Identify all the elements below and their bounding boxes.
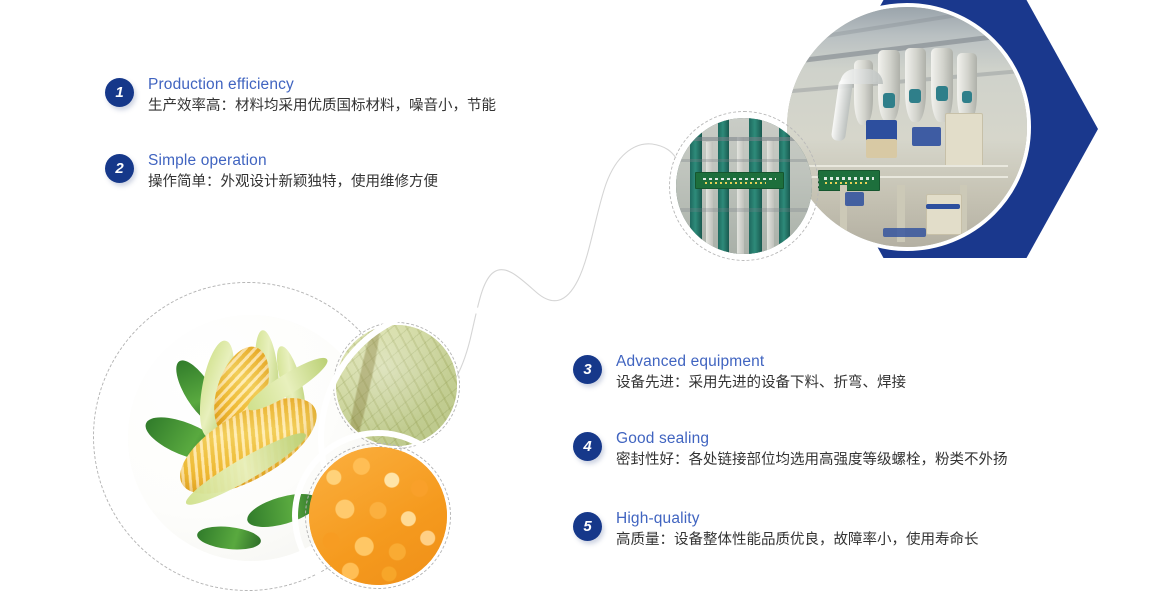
feature-description-5: 高质量：设备整体性能品质优良，故障率小，使用寿命长 [616, 530, 979, 551]
feature-text-5: High-quality 高质量：设备整体性能品质优良，故障率小，使用寿命长 [616, 509, 979, 551]
feature-number-badge-5: 5 [573, 512, 602, 541]
feature-item-1[interactable]: 1 Production efficiency 生产效率高：材料均采用优质国标材… [105, 75, 496, 117]
feature-item-5[interactable]: 5 High-quality 高质量：设备整体性能品质优良，故障率小，使用寿命长 [573, 509, 979, 551]
feature-description-4: 密封性好：各处链接部位均选用高强度等级螺栓，粉类不外扬 [616, 450, 1008, 471]
feature-text-4: Good sealing 密封性好：各处链接部位均选用高强度等级螺栓，粉类不外扬 [616, 429, 1008, 471]
feature-title-4: Good sealing [616, 429, 1008, 448]
feature-title-3: Advanced equipment [616, 352, 906, 371]
feature-description-1: 生产效率高：材料均采用优质国标材料，噪音小，节能 [148, 96, 496, 117]
feature-number-badge-4: 4 [573, 432, 602, 461]
feature-text-1: Production efficiency 生产效率高：材料均采用优质国标材料，… [148, 75, 496, 117]
feature-text-3: Advanced equipment 设备先进：采用先进的设备下料、折弯、焊接 [616, 352, 906, 394]
corn-paste-photo [336, 325, 457, 446]
feature-title-5: High-quality [616, 509, 979, 528]
feature-title-1: Production efficiency [148, 75, 496, 94]
feature-infographic: 1 Production efficiency 生产效率高：材料均采用优质国标材… [0, 0, 1154, 591]
feature-item-2[interactable]: 2 Simple operation 操作简单：外观设计新颖独特，使用维修方便 [105, 151, 438, 193]
feature-text-2: Simple operation 操作简单：外观设计新颖独特，使用维修方便 [148, 151, 438, 193]
feature-item-3[interactable]: 3 Advanced equipment 设备先进：采用先进的设备下料、折弯、焊… [573, 352, 906, 394]
feature-description-3: 设备先进：采用先进的设备下料、折弯、焊接 [616, 373, 906, 394]
feature-description-2: 操作简单：外观设计新颖独特，使用维修方便 [148, 172, 438, 193]
feature-title-2: Simple operation [148, 151, 438, 170]
feature-item-4[interactable]: 4 Good sealing 密封性好：各处链接部位均选用高强度等级螺栓，粉类不… [573, 429, 1008, 471]
feature-number-badge-3: 3 [573, 355, 602, 384]
green-mill-machinery-photo [676, 118, 812, 254]
feature-number-badge-2: 2 [105, 154, 134, 183]
flour-mill-plant-photo [783, 3, 1031, 251]
feature-number-badge-1: 1 [105, 78, 134, 107]
corn-kernels-photo [309, 447, 447, 585]
